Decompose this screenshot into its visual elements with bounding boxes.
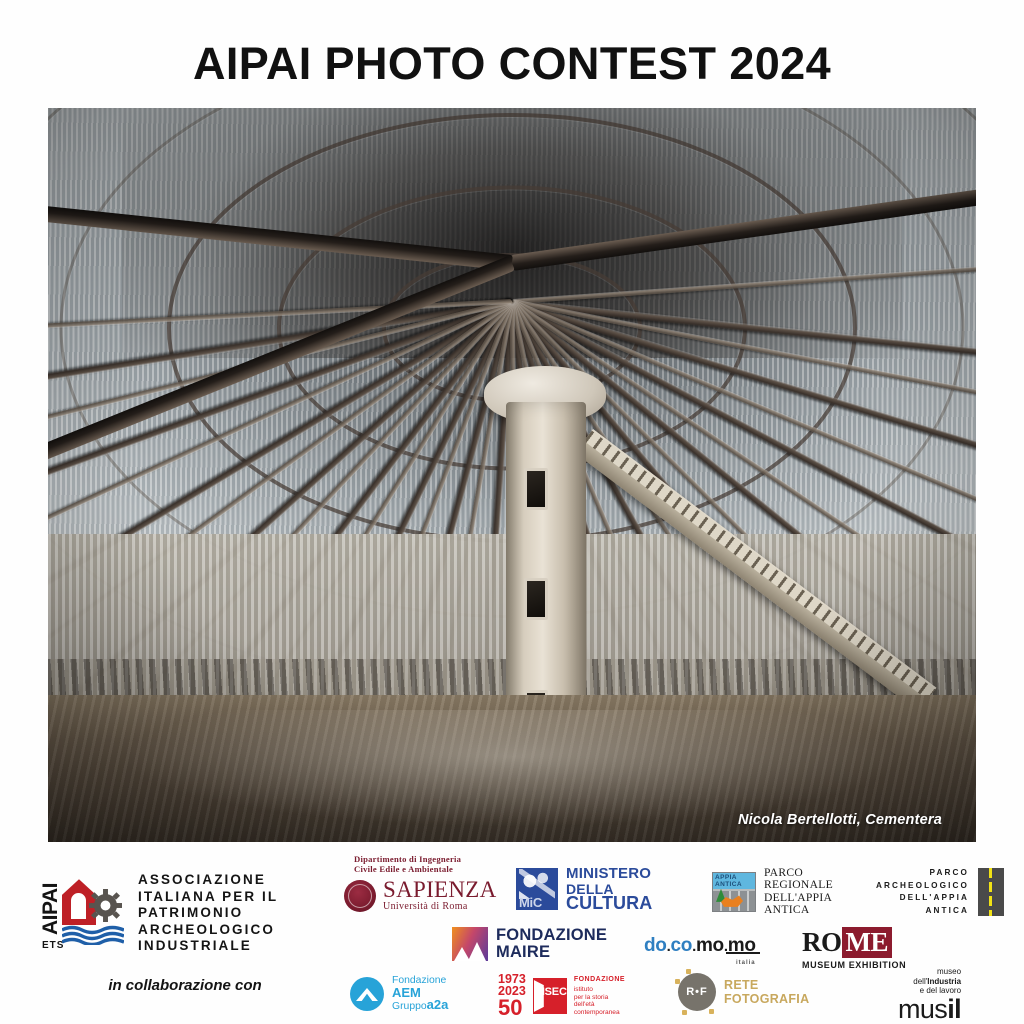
sapienza-name: SAPIENZA <box>383 879 497 901</box>
parco-line: PARCO <box>876 867 969 880</box>
aipai-name-line: ARCHEOLOGICO <box>138 922 278 939</box>
badge-line: APPIA <box>715 874 755 882</box>
photo-credit: Nicola Bertellotti, Cementera <box>738 812 942 828</box>
aipai-acronym: AIPAI <box>40 877 62 935</box>
isec-abbreviation: ISEC <box>542 986 567 998</box>
accent-dot-icon <box>686 969 691 974</box>
musil-word-bold: il <box>947 994 961 1024</box>
floor-dust <box>122 710 902 827</box>
road-marking-icon <box>978 868 1004 916</box>
sapienza-seal-icon <box>344 880 376 912</box>
maire-line: FONDAZIONE <box>496 927 607 944</box>
rome-wordmark: RO ME <box>802 927 892 958</box>
contest-photo: Nicola Bertellotti, Cementera <box>48 108 976 842</box>
sponsor-logo-docomomo-italia[interactable]: do.co.mo.mo italia <box>644 935 756 957</box>
parco-line: REGIONALE <box>764 879 833 891</box>
rome-part-dark: RO <box>802 927 842 958</box>
parco-regionale-wordmark: PARCO REGIONALE DELL'APPIA ANTICA <box>764 867 833 917</box>
isec-wordmark: FONDAZIONE istituto per la storia dell'e… <box>574 976 625 1017</box>
maire-shape <box>468 942 486 961</box>
musil-word-light: mus <box>898 994 947 1024</box>
aipai-name-line: ITALIANA PER IL <box>138 889 278 906</box>
musil-prefix: dell' <box>913 977 927 986</box>
page-title: AIPAI PHOTO CONTEST 2024 <box>0 38 1024 90</box>
accent-dot-icon <box>675 979 680 984</box>
isec-desc-line: per la storia <box>574 994 625 1002</box>
rete-line: RETE <box>724 978 809 992</box>
sapienza-wordmark: SAPIENZA Università di Roma <box>383 879 497 912</box>
musil-bold: Industria <box>927 977 961 986</box>
aem-mountain-icon <box>350 977 384 1011</box>
aipai-identity-block[interactable]: AIPAI ETS <box>40 872 330 994</box>
rome-subtitle: MUSEUM EXHIBITION <box>802 960 906 970</box>
department-line: Civile Edile e Ambientale <box>354 864 518 874</box>
musil-line: dell'Industria <box>913 977 961 987</box>
sponsor-logo-fondazione-aem[interactable]: Fondazione AEM Gruppoa2a <box>350 975 448 1013</box>
aem-group-brand: a2a <box>427 997 449 1012</box>
sponsor-logo-parco-archeologico-appia[interactable]: PARCO ARCHEOLOGICO DELL'APPIA ANTICA <box>876 867 1004 917</box>
aipai-full-name: ASSOCIAZIONE ITALIANA PER IL PATRIMONIO … <box>138 872 278 955</box>
sapienza-department: Dipartimento di Ingegneria Civile Edile … <box>354 854 518 874</box>
aipai-name-line: ASSOCIAZIONE <box>138 872 278 889</box>
isec-desc-line: dell'età <box>574 1001 625 1009</box>
docomomo-part: mo <box>696 935 724 956</box>
sponsor-logo-parco-regionale-appia[interactable]: APPIA ANTICA PARCO REGIONALE DELL'APPIA … <box>712 867 833 917</box>
sponsor-strip: AIPAI ETS <box>0 845 1024 1024</box>
rete-fotografia-icon: R•F <box>678 973 716 1011</box>
aipai-logo-icon: AIPAI ETS <box>40 877 126 949</box>
ministero-line: CULTURA <box>566 896 652 911</box>
docomomo-country: italia <box>736 960 756 966</box>
house-door-icon <box>71 893 86 919</box>
parco-line: ANTICA <box>764 904 833 916</box>
docomomo-part: co <box>671 935 693 956</box>
parco-archeologico-wordmark: PARCO ARCHEOLOGICO DELL'APPIA ANTICA <box>876 867 969 917</box>
isec-desc-line: contemporanea <box>574 1009 625 1017</box>
department-line: Dipartimento di Ingegneria <box>354 854 518 864</box>
musil-descriptor: museo dell'Industria e del lavoro <box>913 967 961 996</box>
parco-line: DELL'APPIA <box>876 892 969 905</box>
sponsor-logo-rome-museum-exhibition[interactable]: RO ME MUSEUM EXHIBITION <box>802 927 906 970</box>
aipai-name-line: INDUSTRIALE <box>138 938 278 955</box>
sapienza-subtitle: Università di Roma <box>383 901 497 912</box>
parco-line: ANTICA <box>876 905 969 918</box>
sponsor-logo-rete-fotografia[interactable]: R•F RETE FOTOGRAFIA <box>678 973 809 1011</box>
tower-opening <box>524 468 548 510</box>
aipai-logo-row: AIPAI ETS <box>40 872 330 955</box>
gear-icon <box>89 889 122 922</box>
rete-abbreviation: R•F <box>678 973 716 1011</box>
isec-heading: FONDAZIONE <box>574 976 625 984</box>
water-waves-icon <box>62 925 124 945</box>
isec-anniversary: 1973 2023 50 <box>498 973 526 1019</box>
sponsor-logo-musil[interactable]: museo dell'Industria e del lavoro musil <box>898 967 961 1023</box>
isec-anniversary-number: 50 <box>498 997 526 1019</box>
maire-wordmark: FONDAZIONE MAIRE <box>496 927 607 961</box>
musil-line: museo <box>913 967 961 977</box>
underline-rule <box>726 952 760 954</box>
isec-emblem-icon: ISEC <box>533 978 567 1014</box>
maire-shape <box>454 947 470 961</box>
poster-canvas: AIPAI PHOTO CONTEST 2024 <box>0 0 1024 1024</box>
photo-scene: Nicola Bertellotti, Cementera <box>48 108 976 842</box>
ministero-wordmark: MINISTERO DELLA CULTURA <box>566 867 652 911</box>
maire-emblem-icon <box>452 927 488 961</box>
mic-abbreviation: MiC <box>519 895 542 910</box>
badge-line: ANTICA <box>715 881 755 889</box>
badge-text: APPIA ANTICA <box>715 874 755 889</box>
maire-line: MAIRE <box>496 944 607 961</box>
accent-dot-icon <box>682 1010 687 1015</box>
sponsor-logo-fondazione-isec[interactable]: 1973 2023 50 ISEC FONDAZIONE istituto pe… <box>498 973 625 1019</box>
rete-wordmark: RETE FOTOGRAFIA <box>724 978 809 1006</box>
tower-opening <box>524 578 548 620</box>
parco-regionale-badge-icon: APPIA ANTICA <box>712 872 756 912</box>
aipai-name-line: PATRIMONIO <box>138 905 278 922</box>
sponsor-logo-ministero-cultura[interactable]: MiC MINISTERO DELLA CULTURA <box>516 867 652 911</box>
isec-desc-line: istituto <box>574 986 625 994</box>
sponsor-logo-fondazione-maire[interactable]: FONDAZIONE MAIRE <box>452 927 607 961</box>
sapienza-mark: SAPIENZA Università di Roma <box>344 879 497 912</box>
collaboration-label: in collaborazione con <box>40 977 330 994</box>
parco-line: ARCHEOLOGICO <box>876 880 969 893</box>
musil-wordmark: musil <box>898 996 961 1023</box>
aem-group-line: Gruppoa2a <box>392 999 448 1013</box>
aem-wordmark: Fondazione AEM Gruppoa2a <box>392 975 448 1013</box>
docomomo-part: do <box>644 935 667 956</box>
accent-dot-icon <box>709 1009 714 1014</box>
ministero-line: MINISTERO <box>566 867 652 882</box>
mic-emblem-icon: MiC <box>516 868 558 910</box>
aem-group-prefix: Gruppo <box>392 1001 427 1012</box>
rete-line: FOTOGRAFIA <box>724 992 809 1006</box>
rome-part-accent: ME <box>842 927 893 958</box>
docomomo-wordmark: do.co.mo.mo italia <box>644 935 756 957</box>
